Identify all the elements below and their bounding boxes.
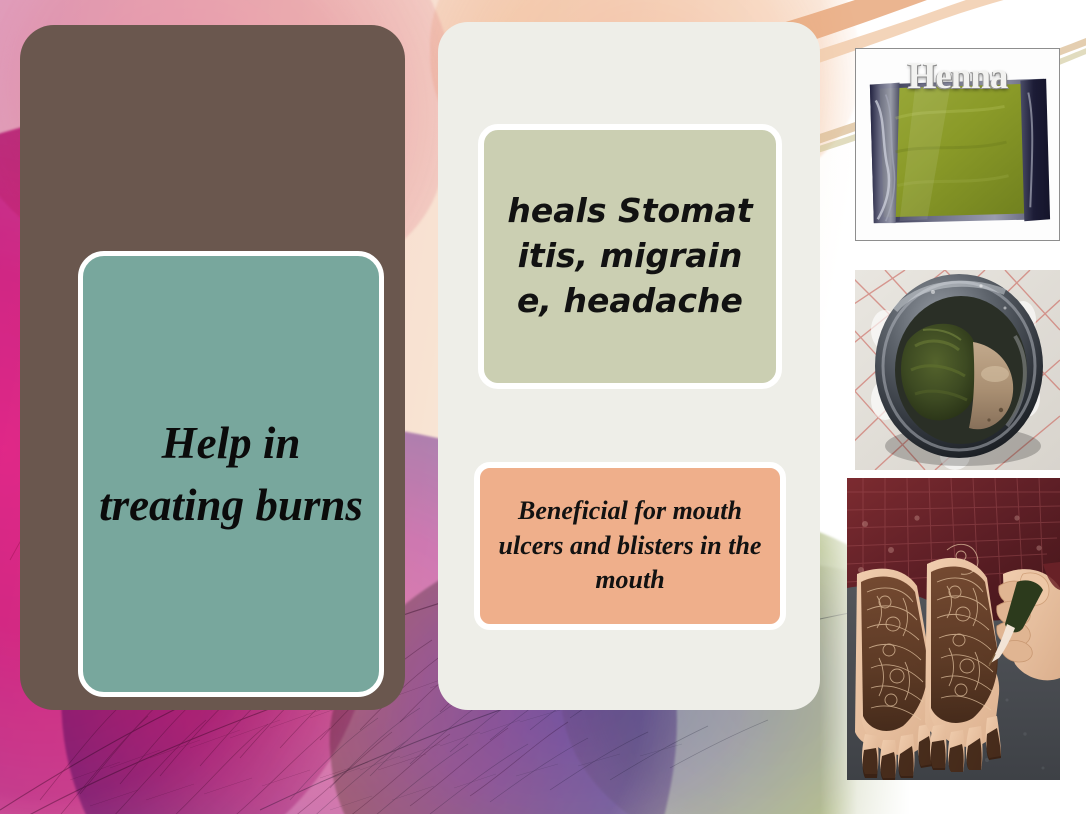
- left-brown-panel: Help in treating burns: [20, 25, 405, 710]
- beneficial-box[interactable]: Beneficial for mouth ulcers and blisters…: [474, 462, 786, 630]
- mehndi-hands-artwork: [847, 478, 1060, 780]
- slide-canvas: Help in treating burns heals Stomatitis,…: [0, 0, 1086, 814]
- henna-powder-packet-photo[interactable]: Henna: [855, 48, 1060, 241]
- heals-box[interactable]: heals Stomatitis, migraine, headache: [478, 124, 782, 389]
- teal-callout-box[interactable]: Help in treating burns: [78, 251, 384, 697]
- mehndi-hands-photo[interactable]: [847, 478, 1060, 780]
- henna-powder-packet-artwork: [856, 49, 1059, 240]
- henna-paste-bowl-photo[interactable]: [855, 270, 1060, 470]
- beneficial-box-text: Beneficial for mouth ulcers and blisters…: [496, 494, 764, 598]
- teal-callout-text: Help in treating burns: [83, 412, 379, 536]
- henna-paste-bowl-artwork: [855, 270, 1060, 470]
- heals-box-text: heals Stomatitis, migraine, headache: [505, 189, 755, 324]
- middle-cream-panel: heals Stomatitis, migraine, headache Ben…: [438, 22, 820, 710]
